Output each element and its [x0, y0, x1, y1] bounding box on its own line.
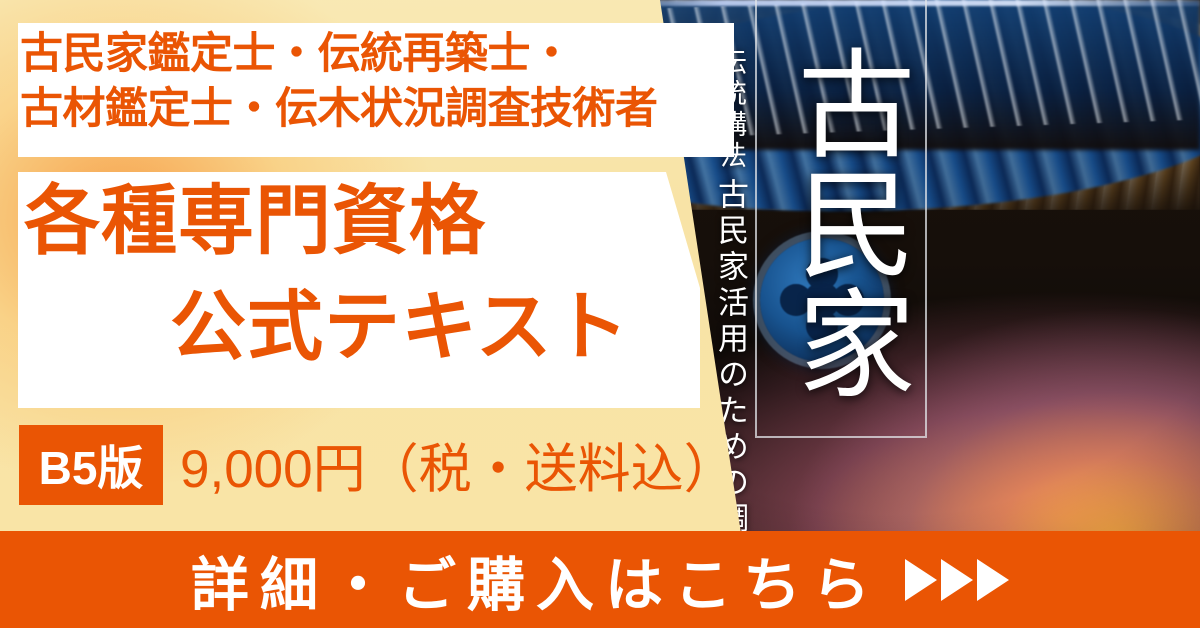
play-arrow-icon	[977, 559, 1009, 601]
play-arrow-icon	[941, 559, 973, 601]
price-text: 9,000円（税・送料込）	[180, 428, 737, 502]
size-badge: B5版	[19, 425, 163, 505]
play-arrow-icon	[905, 559, 937, 601]
cta-label: 詳細・ご購入はこちら	[191, 538, 881, 622]
cta-arrows	[905, 559, 1009, 601]
lead-text: 古民家鑑定士・伝統再築士・ 古材鑑定士・伝木状況調査技術者	[20, 27, 720, 137]
title-line-1: 各種専門資格	[24, 184, 486, 260]
cover-title: 古民家	[768, 8, 914, 438]
cta-bar[interactable]: 詳細・ご購入はこちら	[0, 531, 1200, 628]
promo-banner: 伝統構法 古民家活用のための調査と再生の 古民家 古民家鑑定士・伝統再築士・ 古…	[0, 0, 1200, 628]
cta-text-group: 詳細・ご購入はこちら	[191, 538, 1009, 622]
title-line-2: 公式テキスト	[170, 290, 630, 366]
